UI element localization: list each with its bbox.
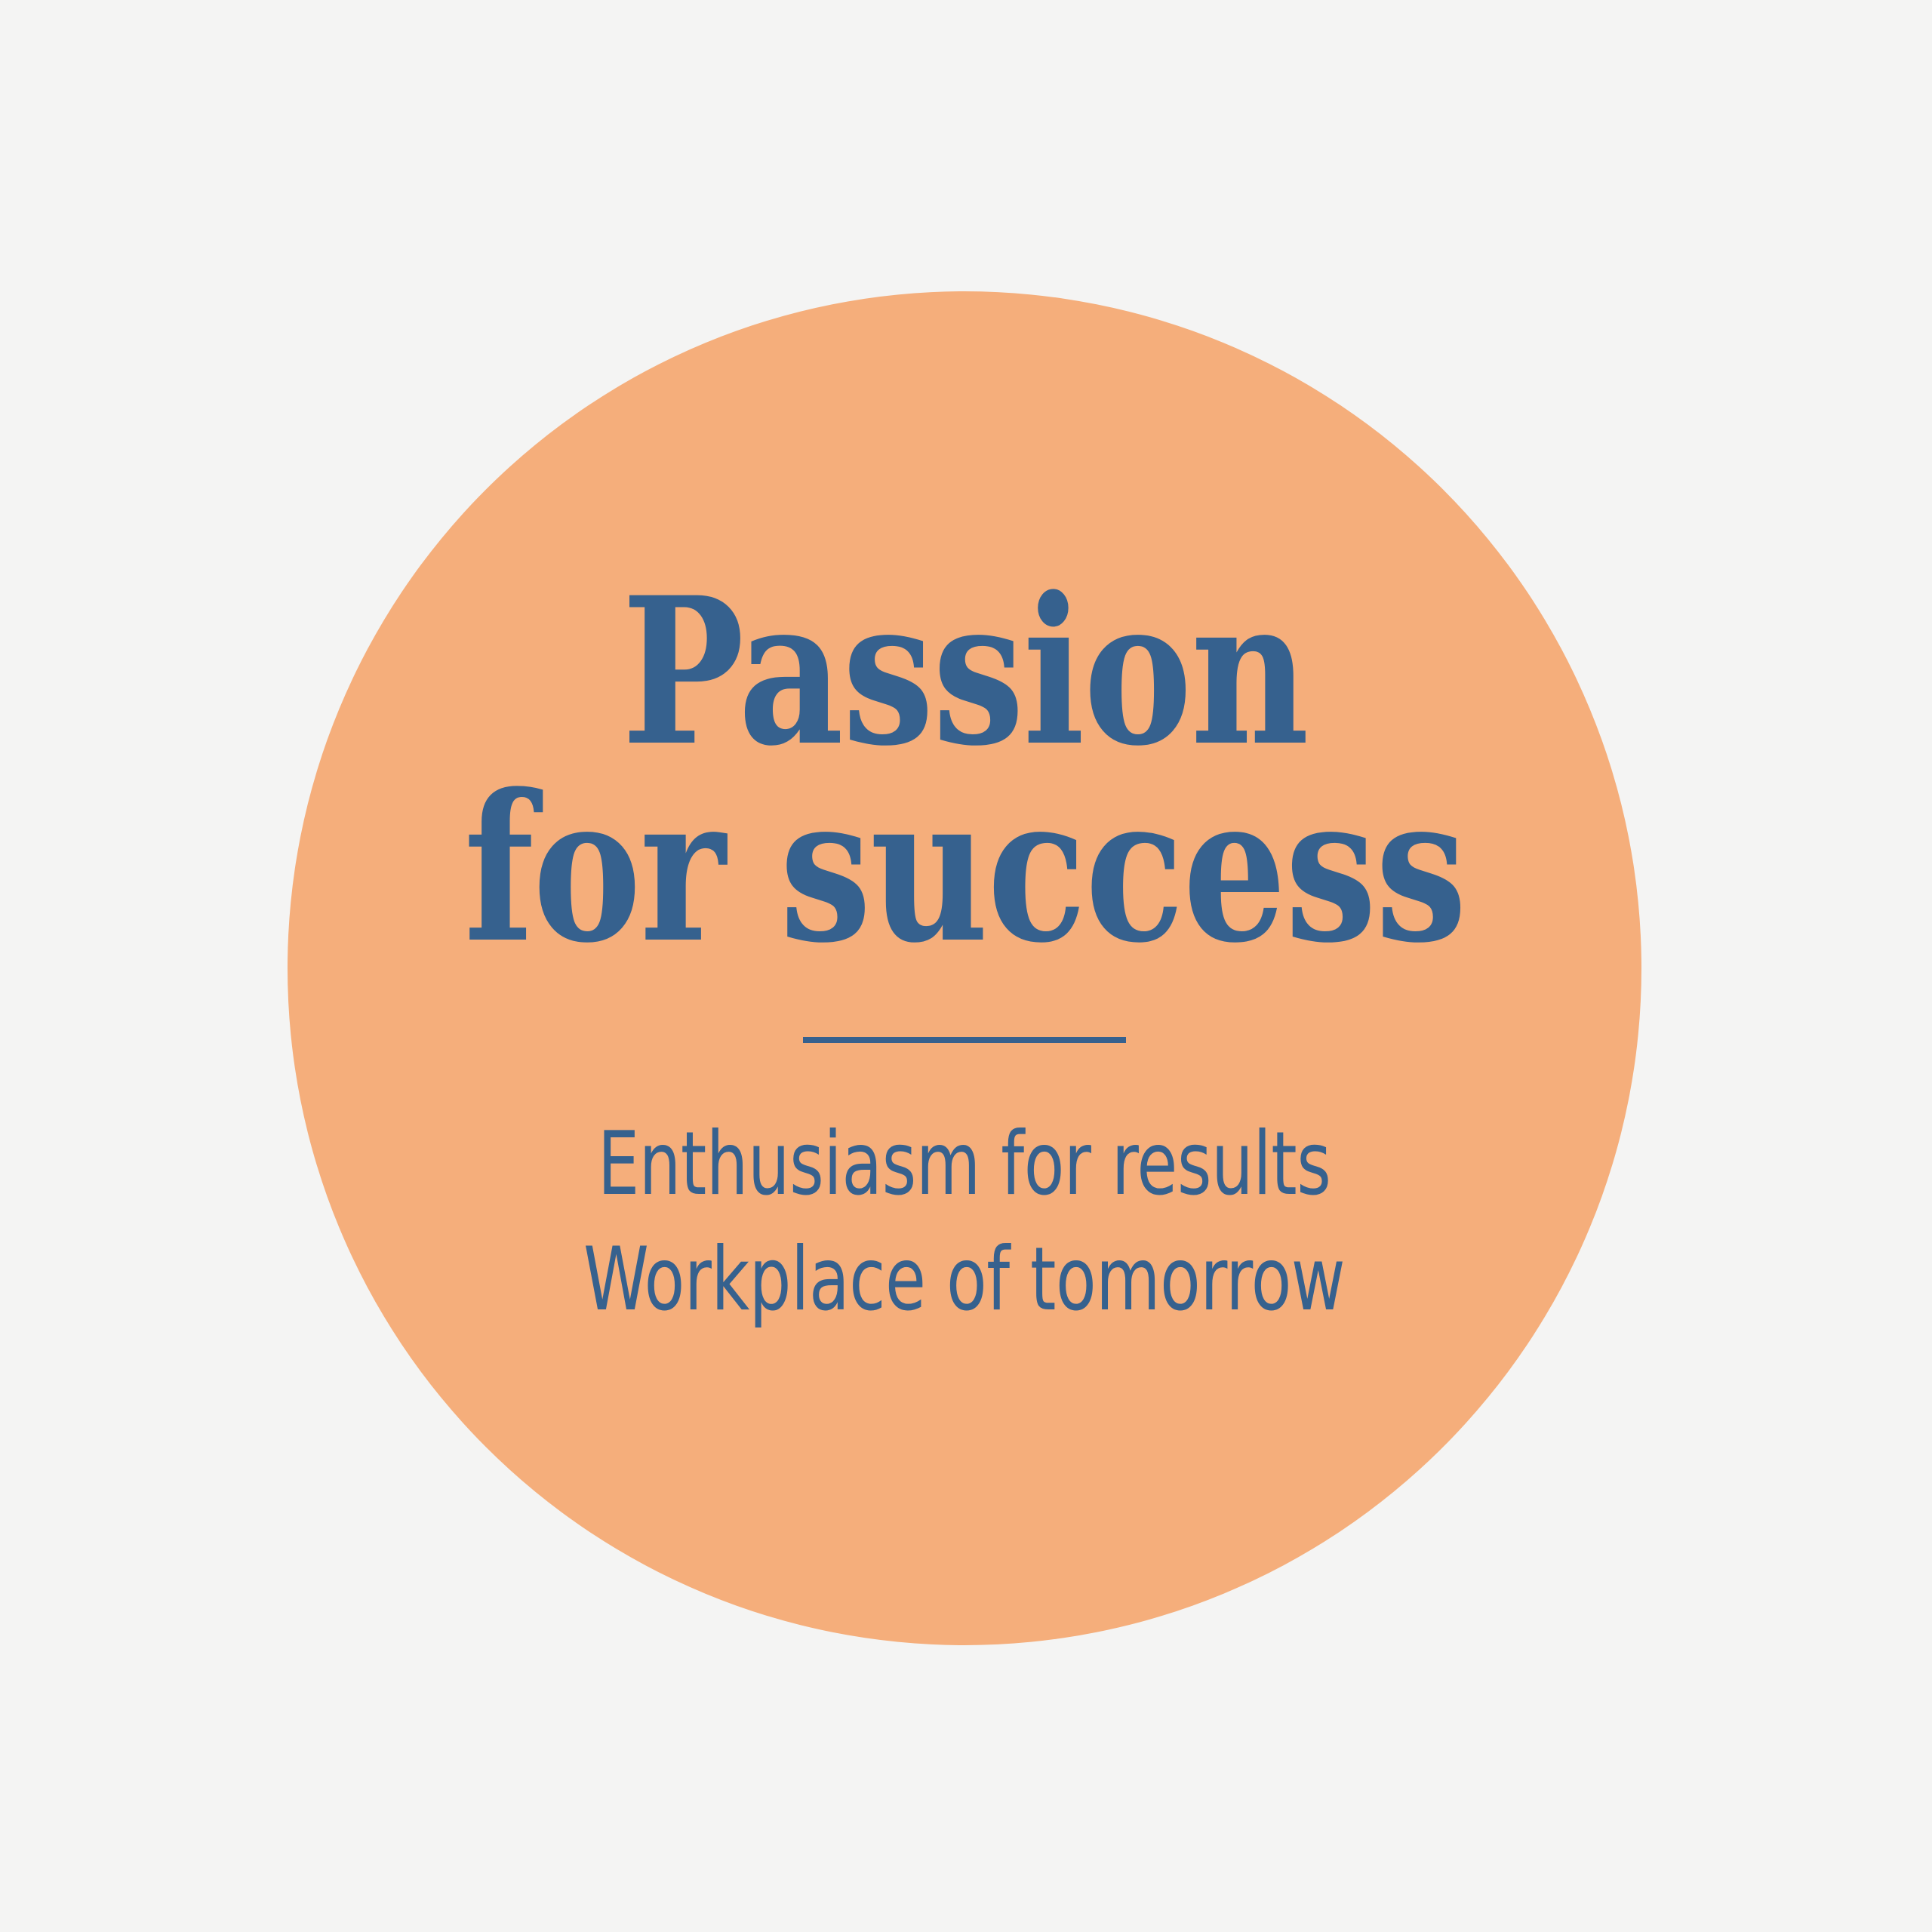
value-circle-badge: Passion for success Enthusiasm for resul…	[288, 291, 1641, 1645]
headline: Passion for success	[463, 574, 1465, 968]
headline-divider	[803, 1037, 1126, 1043]
headline-line-1: Passion	[463, 574, 1465, 771]
poster-canvas: Passion for success Enthusiasm for resul…	[0, 0, 1932, 1932]
subtitle: Enthusiasm for results Workplace of tomo…	[583, 1106, 1345, 1337]
subtitle-line-2: Workplace of tomorrow	[583, 1222, 1345, 1337]
circle-content-stack: Passion for success Enthusiasm for resul…	[288, 291, 1641, 1645]
headline-line-2: for success	[463, 771, 1465, 968]
subtitle-line-1: Enthusiasm for results	[583, 1106, 1345, 1222]
